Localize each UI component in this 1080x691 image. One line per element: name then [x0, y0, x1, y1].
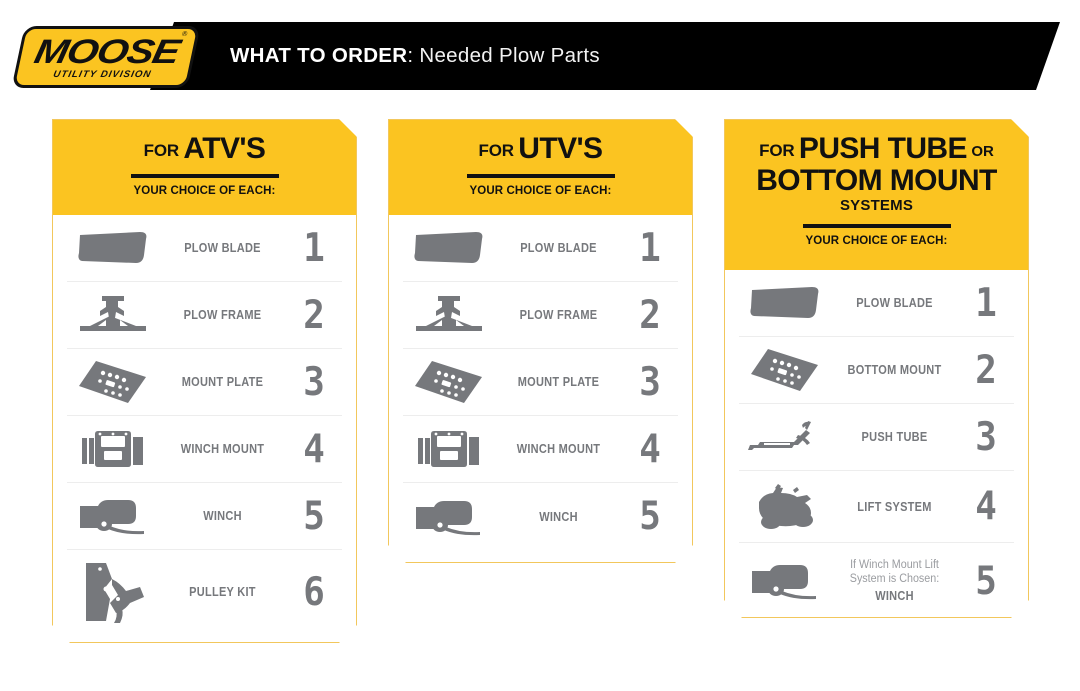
card-push-tube-or-word: OR: [971, 143, 994, 160]
mount-plate-icon: [403, 359, 495, 405]
list-item[interactable]: PLOW FRAME 2: [403, 282, 678, 349]
list-item-number: 2: [624, 296, 676, 335]
list-item-label: MOUNT PLATE: [503, 375, 615, 389]
plow-frame-icon: [403, 294, 495, 336]
list-item-number: 3: [624, 363, 676, 402]
list-item[interactable]: PLOW BLADE 1: [739, 270, 1014, 337]
list-item[interactable]: PUSH TUBE 3: [739, 404, 1014, 471]
list-item-label: PLOW FRAME: [503, 308, 615, 322]
card-push-tube-title-line3: SYSTEMS: [735, 196, 1018, 216]
list-item-number: 5: [960, 562, 1012, 601]
logo-tagline: UTILITY DIVISION: [52, 70, 152, 80]
list-item-label: BOTTOM MOUNT: [839, 363, 951, 377]
card-push-tube-title-main: PUSH TUBE: [799, 132, 967, 165]
moose-logo: MOOSE UTILITY DIVISION ®: [18, 26, 194, 88]
list-item-label: PLOW BLADE: [839, 296, 951, 310]
card-utv-divider: [467, 174, 615, 178]
list-item[interactable]: PULLEY KIT 6: [67, 550, 342, 634]
card-atv-for-word: FOR: [144, 141, 179, 160]
winch-icon: [739, 561, 831, 601]
card-utv-title-main: UTV'S: [518, 132, 602, 165]
logo-inner: MOOSE UTILITY DIVISION: [11, 26, 200, 88]
list-item-label: MOUNT PLATE: [167, 375, 279, 389]
list-item[interactable]: WINCH 5: [67, 483, 342, 550]
page-title-bold: WHAT TO ORDER: [230, 44, 407, 68]
list-item-number: 2: [288, 296, 340, 335]
winch-icon: [403, 497, 495, 537]
list-item-number: 5: [624, 497, 676, 536]
list-item[interactable]: PLOW BLADE 1: [67, 215, 342, 282]
list-item-label: WINCH MOUNT: [167, 442, 279, 456]
list-item[interactable]: MOUNT PLATE 3: [403, 349, 678, 416]
lift-system-icon: [739, 482, 831, 532]
page-title-light: : Needed Plow Parts: [407, 44, 600, 68]
list-item-number: 2: [960, 351, 1012, 390]
card-atv-divider: [131, 174, 279, 178]
logo-brand-name: MOOSE: [32, 35, 183, 69]
card-utv-header: FOR UTV'S YOUR CHOICE OF EACH:: [389, 120, 692, 215]
list-item-number: 4: [288, 430, 340, 469]
card-push-tube-divider: [803, 224, 951, 228]
card-utv-for-word: FOR: [479, 141, 514, 160]
list-item-number: 1: [960, 284, 1012, 323]
list-item[interactable]: PLOW FRAME 2: [67, 282, 342, 349]
winch-mount-icon: [403, 427, 495, 471]
mount-plate-icon: [67, 359, 159, 405]
card-atv-header: FOR ATV'S YOUR CHOICE OF EACH:: [53, 120, 356, 215]
card-push-tube-choice-label: YOUR CHOICE OF EACH:: [735, 235, 1018, 247]
list-item-number: 1: [624, 229, 676, 268]
list-item[interactable]: PLOW BLADE 1: [403, 215, 678, 282]
card-utv-title: FOR UTV'S: [399, 134, 682, 165]
list-item-label: PLOW FRAME: [167, 308, 279, 322]
list-item-number: 3: [960, 418, 1012, 457]
list-item-note: If Winch Mount Lift System is Chosen:: [835, 559, 953, 586]
list-item-number: 3: [288, 363, 340, 402]
list-item-number: 5: [288, 497, 340, 536]
card-utv: FOR UTV'S YOUR CHOICE OF EACH: PLOW BLAD…: [388, 119, 693, 563]
card-push-tube-body: PLOW BLADE 1 BOTTOM MOUNT 2 PUSH TUBE 3 …: [725, 270, 1028, 619]
push-tube-icon: [739, 419, 831, 455]
winch-mount-icon: [67, 427, 159, 471]
list-item-label: PULLEY KIT: [167, 585, 279, 599]
card-atv-body: PLOW BLADE 1 PLOW FRAME 2 MOUNT PLATE 3 …: [53, 215, 356, 634]
plow-blade-icon: [67, 229, 159, 267]
winch-icon: [67, 496, 159, 536]
list-item[interactable]: If Winch Mount Lift System is Chosen: WI…: [739, 543, 1014, 619]
list-item[interactable]: BOTTOM MOUNT 2: [739, 337, 1014, 404]
card-utv-body: PLOW BLADE 1 PLOW FRAME 2 MOUNT PLATE 3 …: [389, 215, 692, 550]
list-item-number: 4: [624, 430, 676, 469]
list-item-label: If Winch Mount Lift System is Chosen: WI…: [839, 559, 951, 602]
list-item-label: PUSH TUBE: [839, 430, 951, 444]
plow-blade-icon: [403, 229, 495, 267]
pulley-kit-icon: [67, 559, 159, 625]
list-item[interactable]: WINCH MOUNT 4: [67, 416, 342, 483]
card-push-tube: FOR PUSH TUBE OR BOTTOM MOUNT SYSTEMS YO…: [724, 119, 1029, 618]
card-atv: FOR ATV'S YOUR CHOICE OF EACH: PLOW BLAD…: [52, 119, 357, 643]
card-atv-title-main: ATV'S: [183, 132, 265, 165]
list-item[interactable]: WINCH 5: [403, 483, 678, 550]
card-push-tube-for-word: FOR: [759, 141, 794, 160]
list-item-number: 6: [288, 573, 340, 612]
bottom-mount-icon: [739, 347, 831, 393]
list-item-number: 1: [288, 229, 340, 268]
list-item-label-text: WINCH: [839, 589, 951, 603]
card-atv-title: FOR ATV'S: [63, 134, 346, 165]
page-title: WHAT TO ORDER: Needed Plow Parts: [230, 22, 600, 90]
plow-blade-icon: [739, 284, 831, 322]
list-item[interactable]: MOUNT PLATE 3: [67, 349, 342, 416]
list-item-label: LIFT SYSTEM: [839, 500, 951, 514]
list-item-label: WINCH MOUNT: [503, 442, 615, 456]
card-push-tube-title-line2: BOTTOM MOUNT: [735, 165, 1018, 196]
list-item[interactable]: WINCH MOUNT 4: [403, 416, 678, 483]
card-atv-choice-label: YOUR CHOICE OF EACH:: [63, 185, 346, 197]
list-item-label: WINCH: [503, 510, 615, 524]
list-item-number: 4: [960, 487, 1012, 526]
list-item-label: WINCH: [167, 509, 279, 523]
list-item[interactable]: LIFT SYSTEM 4: [739, 471, 1014, 543]
card-push-tube-header: FOR PUSH TUBE OR BOTTOM MOUNT SYSTEMS YO…: [725, 120, 1028, 270]
card-push-tube-title-line1: FOR PUSH TUBE OR: [735, 134, 1018, 165]
plow-frame-icon: [67, 294, 159, 336]
list-item-label: PLOW BLADE: [167, 241, 279, 255]
card-utv-choice-label: YOUR CHOICE OF EACH:: [399, 185, 682, 197]
list-item-label: PLOW BLADE: [503, 241, 615, 255]
